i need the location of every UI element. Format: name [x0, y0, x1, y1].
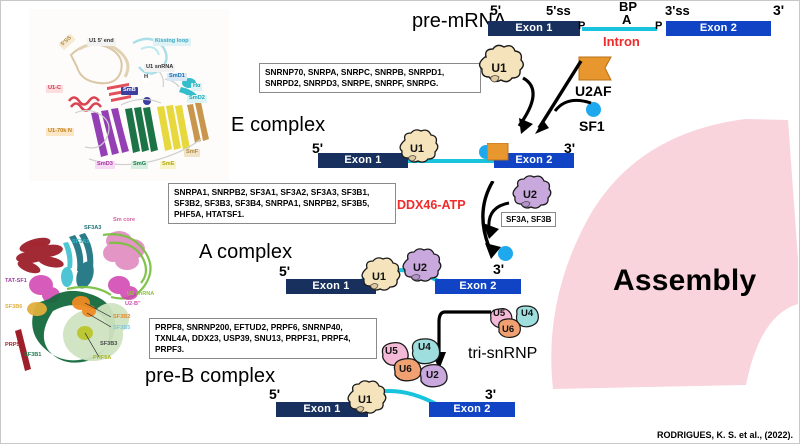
assembly-label: Assembly: [613, 264, 756, 298]
pre-b-u6-label: U6: [399, 364, 412, 375]
structure-label: SmE: [160, 161, 176, 169]
tri-snrnp-u4-label: U4: [521, 308, 533, 319]
structure-label: PHF5A: [91, 355, 113, 363]
a-complex-5prime: 5': [279, 263, 290, 279]
pre-b-u4-label: U4: [418, 342, 431, 353]
e-complex-u2af-flag-icon: [487, 143, 509, 161]
e-complex-title: E complex: [231, 114, 325, 137]
e-complex-u1-snrnp: U1: [396, 131, 438, 167]
structure-label: SmD3: [95, 161, 115, 169]
structure-label: Kissing loop: [153, 38, 191, 46]
a-complex-exon2: Exon 2: [435, 279, 521, 294]
pre-mrna-p-left: P: [578, 20, 585, 32]
structure-label: SF3B5: [111, 325, 132, 333]
structure-label: SF3B6: [3, 304, 24, 312]
pre-b-complex-title: pre-B complex: [145, 365, 275, 388]
diagram-canvas: 5'SSU1 5' endKissing loopU1 snRNAHSmD1Hα…: [1, 1, 800, 445]
structure-label: SF3B1: [22, 352, 43, 360]
structure-label: U1-C: [46, 85, 63, 93]
pre-mrna-exon1: Exon 1: [488, 21, 580, 36]
e-complex-arrows: [431, 56, 611, 146]
pre-b-complex-3prime: 3': [485, 386, 496, 402]
structure-label: SmG: [131, 161, 148, 169]
structure-label: SF3B3: [98, 341, 119, 349]
pre-b-complex-exon2: Exon 2: [429, 402, 515, 417]
structure-label: H: [142, 74, 150, 82]
structure-label: TAT-SF1: [3, 278, 29, 286]
structure-label: SF3A3: [82, 225, 103, 233]
structure-label: U2 snRNA: [125, 291, 156, 299]
structure-label: SmF: [184, 149, 200, 157]
structure-label: SF3A1: [70, 239, 91, 247]
structure-label: Sm core: [111, 217, 137, 225]
pre-mrna-exon2: Exon 2: [666, 21, 771, 36]
pre-mrna-intron-line: [582, 27, 657, 31]
structure-label: SmB: [121, 87, 138, 95]
structure-label: U2-B": [123, 301, 143, 309]
pre-mrna-3ss: 3'ss: [665, 3, 690, 18]
pre-b-complex-protein-list: PRPF8, SNRNP200, EFTUD2, PRPF6, SNRNP40,…: [149, 318, 377, 359]
structure-label: U1-70k N: [46, 128, 74, 136]
structure-label: Hα: [191, 83, 202, 91]
pre-mrna-intron-label: Intron: [603, 34, 640, 49]
structure-label: U1 5' end: [87, 38, 116, 46]
pre-b-u5-label: U5: [385, 346, 398, 357]
pre-b-snrnp-cluster: U5 U4 U6 U2: [377, 337, 455, 403]
a-complex-u2-snrnp: U2: [399, 250, 441, 286]
pre-mrna-p-right: P: [655, 20, 662, 32]
a-complex-3prime: 3': [493, 261, 504, 277]
pre-mrna-5ss: 5'ss: [546, 3, 571, 18]
structure-label: SmD1: [167, 73, 187, 81]
a-complex-u1-snrnp: U1: [358, 259, 400, 295]
pre-b-complex-5prime: 5': [269, 386, 280, 402]
pre-b-u2-label: U2: [426, 370, 439, 381]
structure-label: PRP5: [3, 342, 22, 350]
a-complex-protein-list: SNRPA1, SNRPB2, SF3A1, SF3A2, SF3A3, SF3…: [168, 183, 396, 224]
structure-label: SF3B2: [111, 314, 132, 322]
pre-mrna-bp-base: A: [622, 12, 631, 27]
pre-mrna-3prime: 3': [773, 2, 784, 18]
structure-label: SmD2: [187, 95, 207, 103]
citation-text: RODRIGUES, K. S. et al., (2022).: [657, 430, 793, 440]
pre-mrna-5prime: 5': [490, 2, 501, 18]
u1-snrnp-structure-image: 5'SSU1 5' endKissing loopU1 snRNAHSmD1Hα…: [29, 9, 229, 181]
e-complex-exon1: Exon 1: [318, 153, 408, 168]
a-complex-title: A complex: [199, 241, 292, 264]
structure-label: PRP5: [28, 242, 47, 250]
a-complex-released-sf1: [498, 246, 513, 261]
structure-label: U1 snRNA: [144, 64, 175, 72]
